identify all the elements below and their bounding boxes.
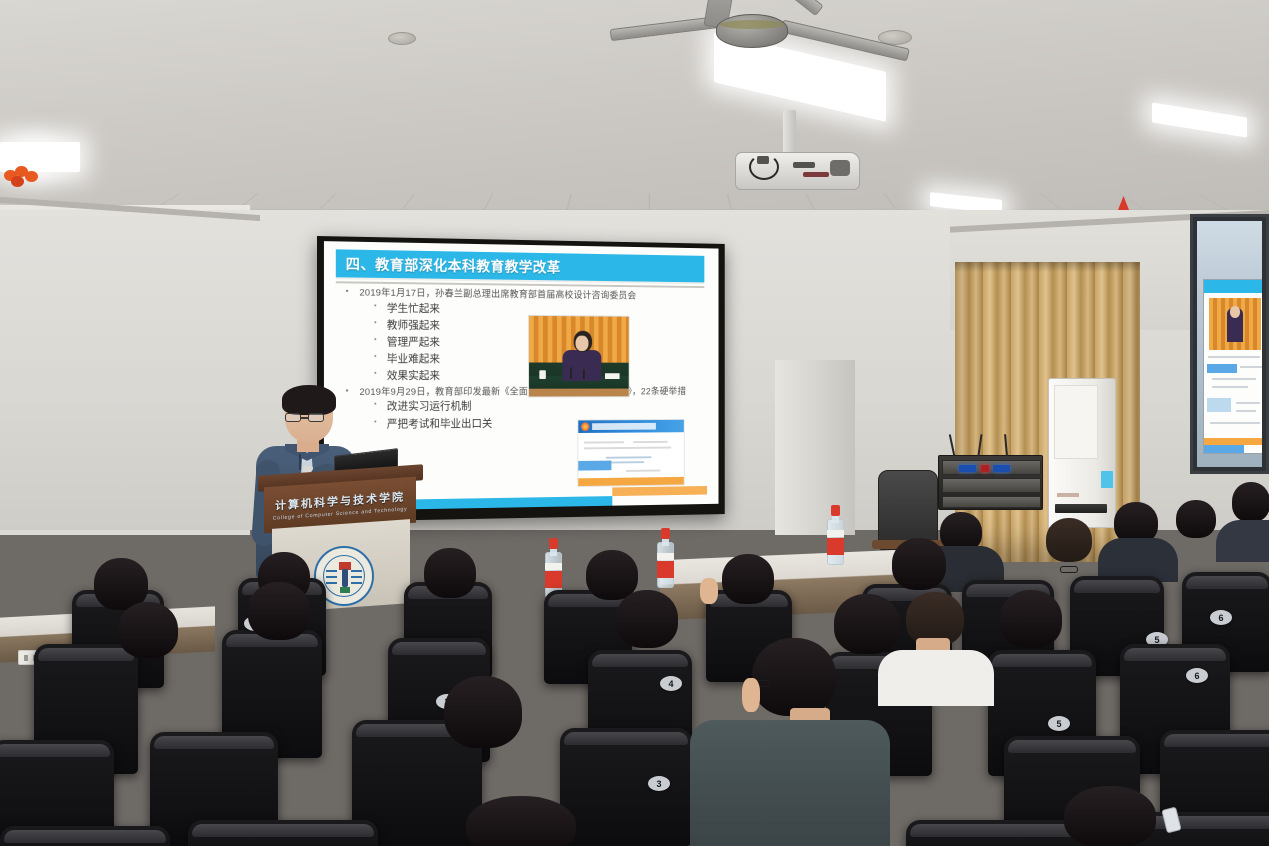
hair [282,385,336,415]
eyeglasses-icon [285,413,301,422]
audience-shoulders [1216,520,1269,562]
audience-face [742,678,760,712]
slide-footer-accent-2 [612,486,707,496]
smoke-detector-icon [388,32,416,45]
audience-head [1046,518,1092,562]
slide-title-bar: 四、教育部深化本科教育教学改革 [336,249,705,282]
energy-label-icon [1101,471,1113,488]
seat-number-badge: 4 [660,676,682,691]
audience-head [248,582,310,640]
secondary-display [1203,279,1262,454]
seat-number-badge: 6 [1186,668,1208,683]
audience-face [700,578,718,604]
rack-led-indicator [959,465,976,472]
audience-head [1064,786,1156,846]
air-conditioner [1048,378,1116,528]
auditorium-chair[interactable] [188,820,378,846]
slide-bullet-6: 效果实起来 [338,368,710,385]
audience-head [1232,482,1269,522]
fluorescent-light-panel [1152,102,1247,137]
auditorium-chair[interactable]: 3 [560,728,692,846]
auditorium-chair[interactable] [0,826,170,846]
slide-title: 四、教育部深化本科教育教学改革 [336,253,561,277]
eyeglasses-icon [308,413,324,422]
eyeglasses-icon [1060,566,1078,573]
audience-head [892,538,946,590]
national-emblem-icon [581,422,589,431]
slide-inset-document [577,419,684,487]
audience-shoulders [690,720,890,846]
ceiling-fan-icon [620,0,920,72]
window [1190,214,1269,474]
ceiling-projector-icon [735,110,860,190]
audience-head [752,638,836,716]
audience-head [616,590,678,648]
seat-number-badge: 6 [1210,610,1232,625]
audience-head [1000,590,1062,648]
rack-led-indicator [993,465,1010,472]
fluorescent-light-panel [25,146,47,172]
slide-bullet-7: 2019年9月29日，教育部印发最新《全面提高人才培养质量的意见》，22条硬举措 [338,385,710,399]
audience-head [1176,500,1216,538]
audience-head [586,550,638,600]
audience-head [466,796,576,846]
audio-equipment-rack [938,455,1043,510]
flower-arrangement [4,118,40,144]
seat-number-badge: 5 [1048,716,1070,731]
seat-number-badge: 3 [648,776,670,791]
audience-seating-area: 5 6 5 [0,520,1269,846]
audience-shoulders [878,650,994,706]
audience-head [118,602,178,658]
slide-inset-photo [528,315,630,398]
rack-led-indicator [981,465,989,472]
lecture-hall-photo: 四、教育部深化本科教育教学改革 2019年1月17日，孙春兰副总理出席教育部首届… [0,0,1269,846]
audience-head [424,548,476,598]
slide-bullet-8: 改进实习运行机制 [338,398,710,416]
audience-head [722,554,774,604]
slide-bullet-5: 毕业难起来 [338,351,710,369]
audience-head [444,676,522,748]
slide-bullet-4: 管理严起来 [338,334,710,352]
audience-head [834,594,900,654]
